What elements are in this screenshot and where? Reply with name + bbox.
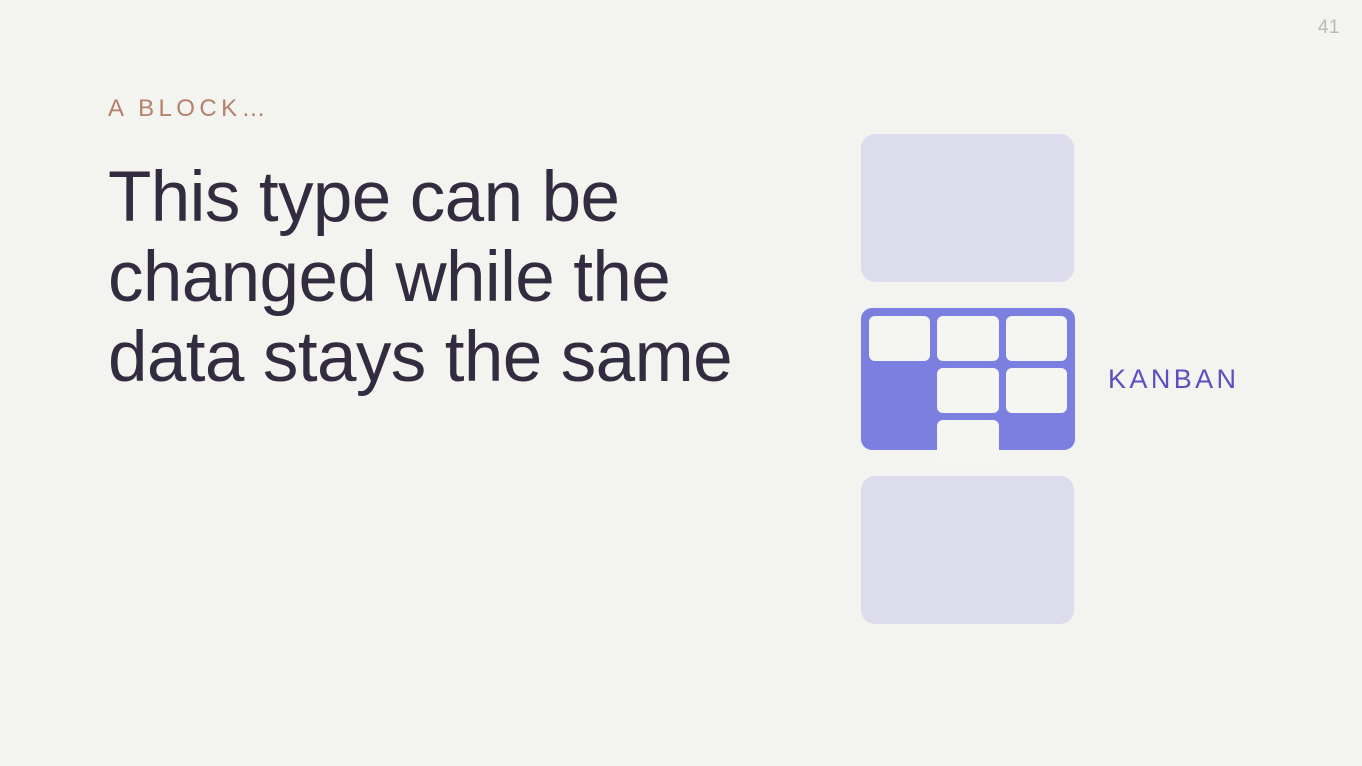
kanban-column-1 [869,316,930,442]
kanban-label: KANBAN [1108,366,1239,393]
placeholder-block-above [861,134,1074,282]
page-number: 41 [1318,18,1340,37]
block-row-below [861,476,1301,624]
text-column: A BLOCK… This type can be changed while … [108,96,798,398]
block-spacer-top [861,282,1301,308]
kanban-icon[interactable] [861,308,1075,450]
kanban-card [1006,316,1067,361]
block-row-kanban: KANBAN [861,308,1301,450]
kanban-card [1006,368,1067,413]
kanban-card [937,316,998,361]
placeholder-block-below [861,476,1074,624]
slide-canvas: 41 A BLOCK… This type can be changed whi… [0,0,1362,766]
kanban-column-3 [1006,316,1067,442]
kanban-column-2 [937,316,998,442]
kanban-card [869,316,930,361]
headline: This type can be changed while the data … [108,158,768,398]
block-spacer-bottom [861,450,1301,476]
diagram-column: KANBAN [861,134,1301,624]
block-row-above [861,134,1301,282]
eyebrow-label: A BLOCK… [108,96,798,122]
kanban-card [937,368,998,413]
kanban-card [937,420,998,465]
